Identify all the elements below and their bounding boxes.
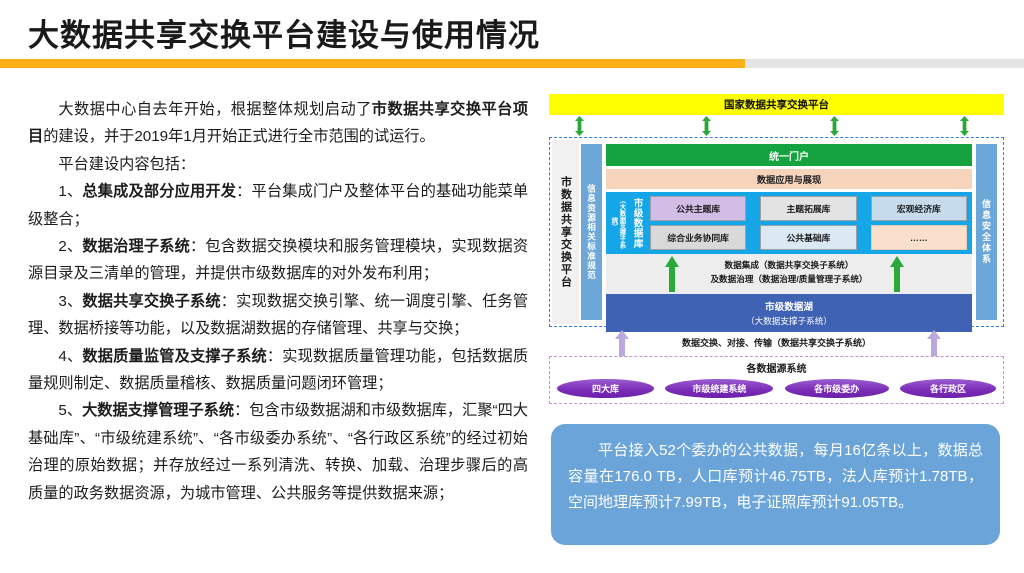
list-item: 4、数据质量监管及支撑子系统：实现数据质量管理功能，包括数据质量规则制定、数据质… [28,343,528,398]
national-link-arrows [549,116,1004,136]
db-main-label: 市级数据库 [628,196,645,250]
double-arrow-icon [829,116,840,136]
db-box-label: 公共主题库 [676,202,720,215]
data-sources-container: 各数据源系统 四大库 市级统建系统 各市级委办 各行政区 [549,356,1004,404]
item-number: 2、 [58,238,82,255]
unified-portal-bar: 统一门户 [606,144,972,166]
list-item: 5、大数据支撑管理子系统：包含市级数据湖和市级数据库，汇聚“四大基础库”、“市级… [28,397,528,507]
data-source-list: 四大库 市级统建系统 各市级委办 各行政区 [550,375,1003,398]
data-lake-subtitle: （大数据支撑子系统） [746,315,832,327]
city-data-lake-box: 市级数据湖 （大数据支撑子系统） [606,294,972,332]
db-box: 主题拓展库 [760,196,856,221]
double-arrow-icon [959,116,970,136]
data-source-oval: 市级统建系统 [665,379,773,398]
double-arrow-icon [574,116,585,136]
data-lake-title: 市级数据湖 [765,299,813,313]
up-arrow-icon [614,330,630,356]
stats-callout-box: 平台接入52个委办的公共数据，每月16亿条以上，数据总容量在176.0 TB，人… [551,424,1000,545]
integration-text: 数据集成（数据共享交换子系统） 及数据治理（数据治理/质量管理子系统） [606,258,972,286]
national-platform-bar: 国家数据共享交换平台 [549,94,1004,115]
db-box-label: 综合业务协同库 [667,231,729,244]
city-database-region: （大数据支撑子系统） 市级数据库 公共主题库 主题拓展库 宏观经济库 综合业务协… [606,192,972,254]
application-display-bar: 数据应用与展现 [606,169,972,189]
item-title: 数据质量监管及支撑子系统 [82,348,266,365]
item-number: 1、 [58,183,82,200]
intro-lead: 大数据中心自去年开始，根据整体规划启动了 [58,101,371,118]
exchange-transfer-zone: 数据交换、对接、传输（数据共享交换子系统） [549,330,1004,356]
city-platform-label-text: 市数据共享交换平台 [558,176,574,289]
item-number: 3、 [58,293,82,310]
integration-line-2: 及数据治理（数据治理/质量管理子系统） [606,272,972,286]
security-bar-text: 信息安全体系 [980,199,993,265]
intro-tail: 的建设，并于2019年1月开始正式进行全市范围的试运行。 [43,128,435,145]
up-arrow-icon [926,330,942,356]
db-box-label: 公共基础库 [786,231,830,244]
unified-portal-label: 统一门户 [769,148,809,163]
platform-stack: 统一门户 数据应用与展现 （大数据支撑子系统） 市级数据库 公共主题库 主题拓展… [606,144,972,320]
paragraph-contents-lead: 平台建设内容包括： [28,151,528,178]
data-source-label: 四大库 [592,382,619,395]
paragraph-intro: 大数据中心自去年开始，根据整体规划启动了市数据共享交换平台项目的建设，并于201… [28,96,528,151]
double-arrow-icon [701,116,712,136]
up-arrow-icon [664,256,680,292]
database-grid: 公共主题库 主题拓展库 宏观经济库 综合业务协同库 公共基础库 …… [650,196,967,250]
city-platform-label: 市数据共享交换平台 [552,140,579,324]
item-number: 5、 [58,402,82,419]
title-rule-accent [0,59,745,68]
application-display-label: 数据应用与展现 [757,172,821,186]
item-number: 4、 [58,348,82,365]
db-box-label: …… [910,233,928,243]
data-source-oval: 各行政区 [900,379,996,398]
db-subsystem-label-text: （大数据支撑子系统） [610,196,626,250]
national-platform-label: 国家数据共享交换平台 [724,97,829,112]
item-title: 数据共享交换子系统 [82,293,220,310]
page-title: 大数据共享交换平台建设与使用情况 [28,10,540,55]
item-title: 总集成及部分应用开发 [82,183,236,200]
db-box: 宏观经济库 [871,196,967,221]
item-title: 大数据支撑管理子系统 [82,402,234,419]
item-title: 数据治理子系统 [82,238,190,255]
list-item: 2、数据治理子系统：包含数据交换模块和服务管理模块，实现数据资源目录及三清单的管… [28,233,528,288]
data-source-label: 各市级委办 [814,382,859,395]
standards-bar: 信息资源相关标准规范 [581,144,602,320]
data-source-label: 市级统建系统 [692,382,746,395]
up-arrow-icon [889,256,905,292]
db-box: …… [871,225,967,250]
security-bar: 信息安全体系 [976,144,997,320]
body-text: 大数据中心自去年开始，根据整体规划启动了市数据共享交换平台项目的建设，并于201… [28,96,528,507]
city-platform-container: 市数据共享交换平台 信息资源相关标准规范 信息安全体系 统一门户 数据应用与展现… [549,137,1004,327]
db-box-label: 主题拓展库 [786,202,830,215]
db-box: 综合业务协同库 [650,225,746,250]
db-subsystem-label: （大数据支撑子系统） [609,196,626,250]
standards-bar-text: 信息资源相关标准规范 [586,184,598,280]
data-source-oval: 四大库 [557,379,654,398]
data-sources-title: 各数据源系统 [550,360,1003,375]
integration-line-1: 数据集成（数据共享交换子系统） [606,258,972,272]
db-box-label: 宏观经济库 [897,202,941,215]
db-box: 公共基础库 [760,225,856,250]
db-box: 公共主题库 [650,196,746,221]
architecture-diagram: 国家数据共享交换平台 市数据共享交换平台 信息资源相关标准规范 信息安全体系 统… [549,94,1004,404]
stats-callout-text: 平台接入52个委办的公共数据，每月16亿条以上，数据总容量在176.0 TB，人… [568,438,983,516]
db-main-label-text: 市级数据库 [630,198,644,249]
data-source-label: 各行政区 [930,382,966,395]
list-item: 3、数据共享交换子系统：实现数据交换引擎、统一调度引擎、任务管理、数据桥接等功能… [28,288,528,343]
list-item: 1、总集成及部分应用开发：平台集成门户及整体平台的基础功能菜单级整合； [28,178,528,233]
integration-governance-zone: 数据集成（数据共享交换子系统） 及数据治理（数据治理/质量管理子系统） [606,254,972,294]
data-source-oval: 各市级委办 [785,379,889,398]
